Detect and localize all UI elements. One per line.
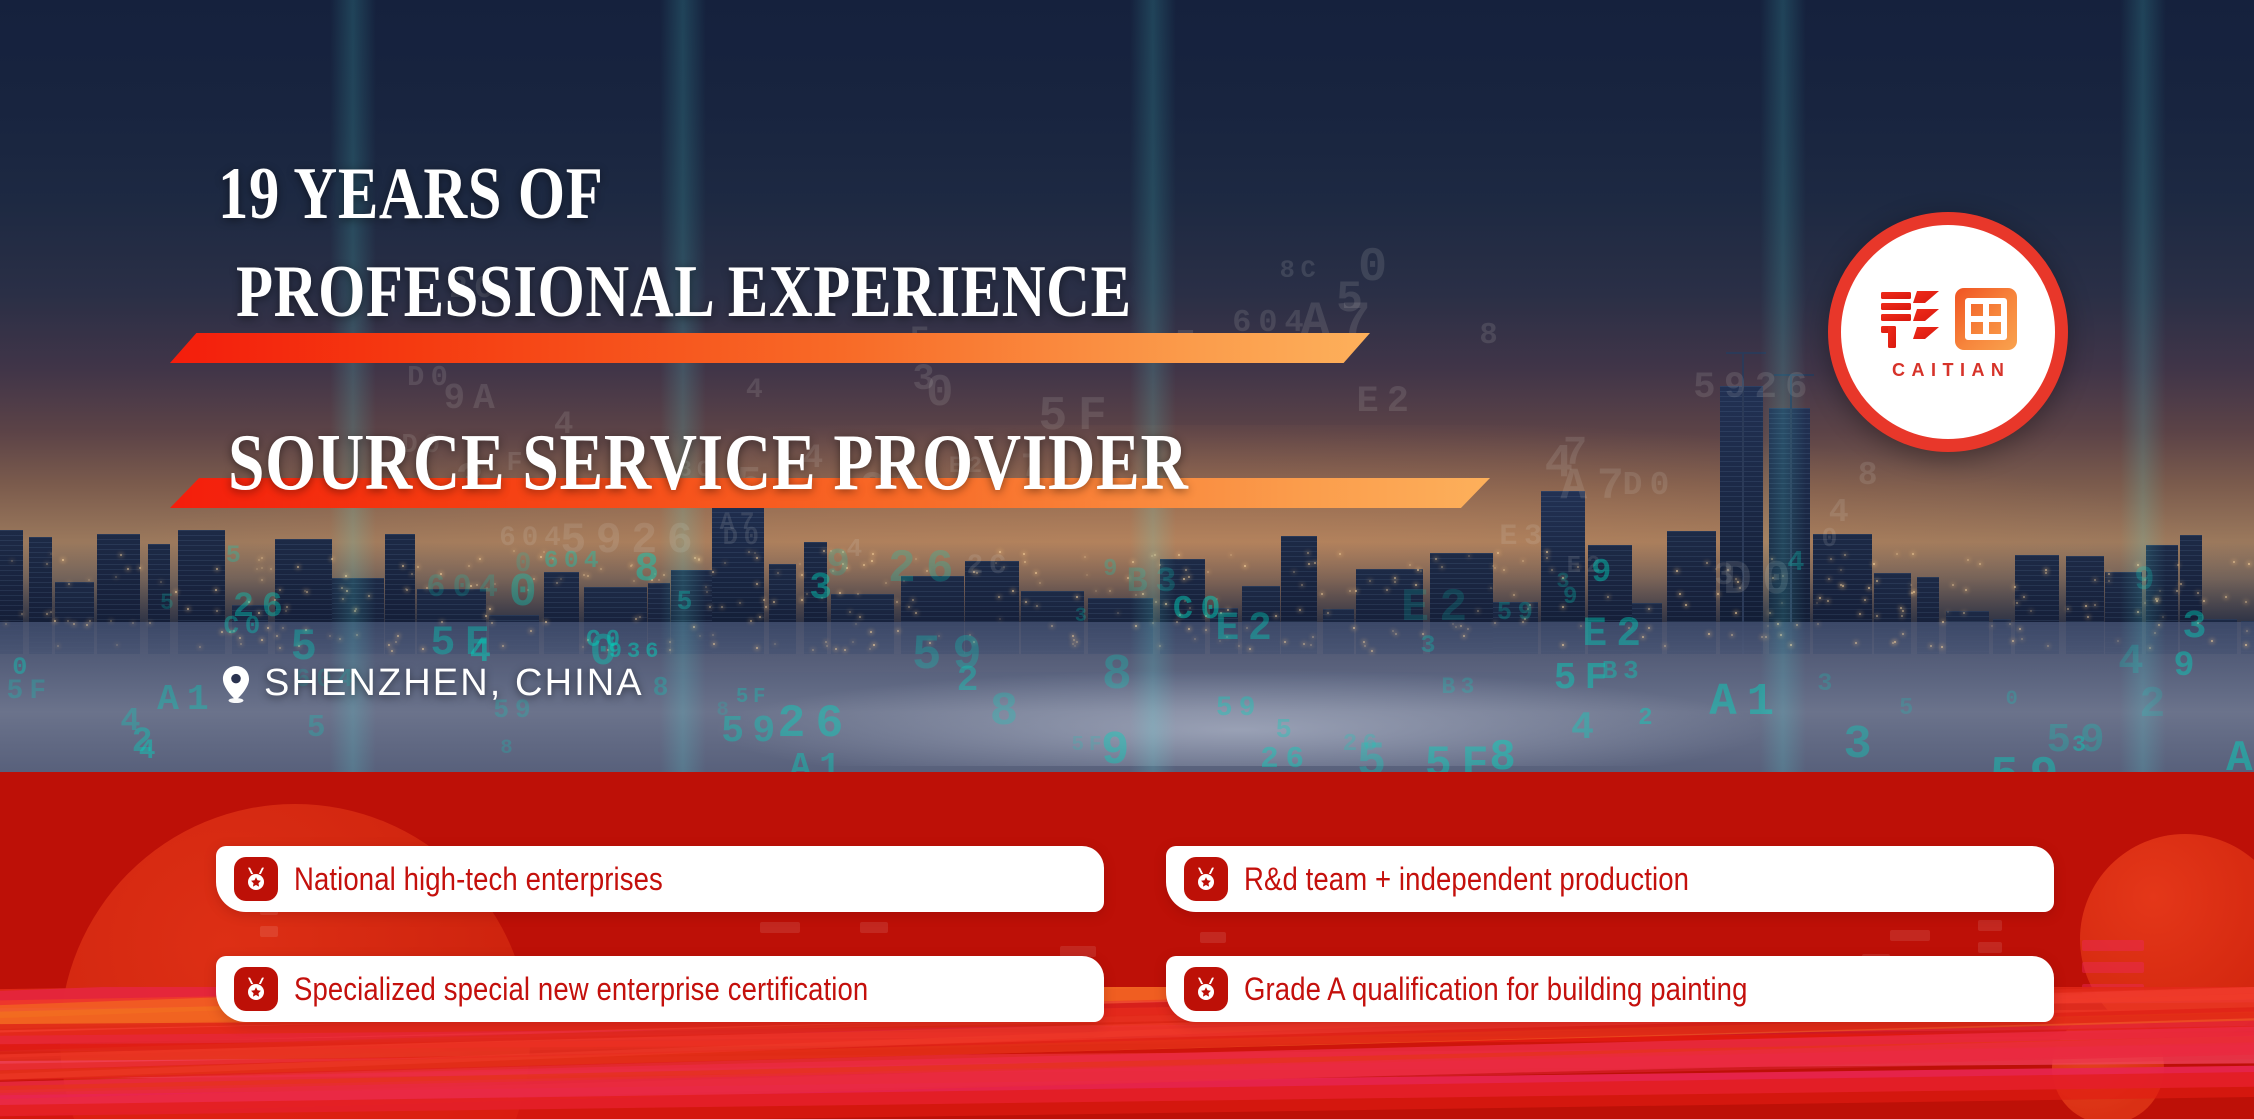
logo-wordmark: CAITIAN [1886,360,2011,381]
feature-pill-label: Grade A qualification for building paint… [1244,971,1748,1008]
company-logo-badge[interactable]: CAITIAN [1828,212,2068,452]
headline-line-3: SOURCE SERVICE PROVIDER [228,418,1189,509]
company-banner: 488CE2D07353055926E245926A72CD05F6042CA7… [0,0,2254,1119]
caitian-chinese-mark-icon [1879,287,1943,351]
decor-dash [1200,932,1226,943]
medal-icon [1184,967,1228,1011]
location-label: SHENZHEN, CHINA [264,662,644,705]
decor-dash [760,922,800,933]
location-block: SHENZHEN, CHINA [222,662,644,705]
accent-slash-1 [170,333,1370,363]
medal-icon [234,857,278,901]
feature-pill-label: National high-tech enterprises [294,861,663,898]
decor-dash [2082,962,2144,973]
feature-pill[interactable]: R&d team + independent production [1166,846,2054,912]
decor-dash [260,926,278,937]
headline-line-1: 19 YEARS OF [218,152,603,237]
feature-pill-label: R&d team + independent production [1244,861,1689,898]
decor-dash [1890,930,1930,941]
features-panel [0,772,2254,1119]
decor-dash [2082,940,2144,951]
map-pin-icon [222,666,250,702]
medal-icon [1184,857,1228,901]
caitian-tian-mark-icon [1955,288,2017,350]
headline-line-2: PROFESSIONAL EXPERIENCE [236,250,1132,335]
decor-dash [1978,942,2002,953]
decor-dash [860,922,888,933]
feature-pill-label: Specialized special new enterprise certi… [294,971,868,1008]
feature-pill[interactable]: Grade A qualification for building paint… [1166,956,2054,1022]
feature-pill[interactable]: Specialized special new enterprise certi… [216,956,1104,1022]
logo-marks [1879,287,2017,351]
decor-dash [1978,920,2002,931]
medal-icon [234,967,278,1011]
feature-pill[interactable]: National high-tech enterprises [216,846,1104,912]
